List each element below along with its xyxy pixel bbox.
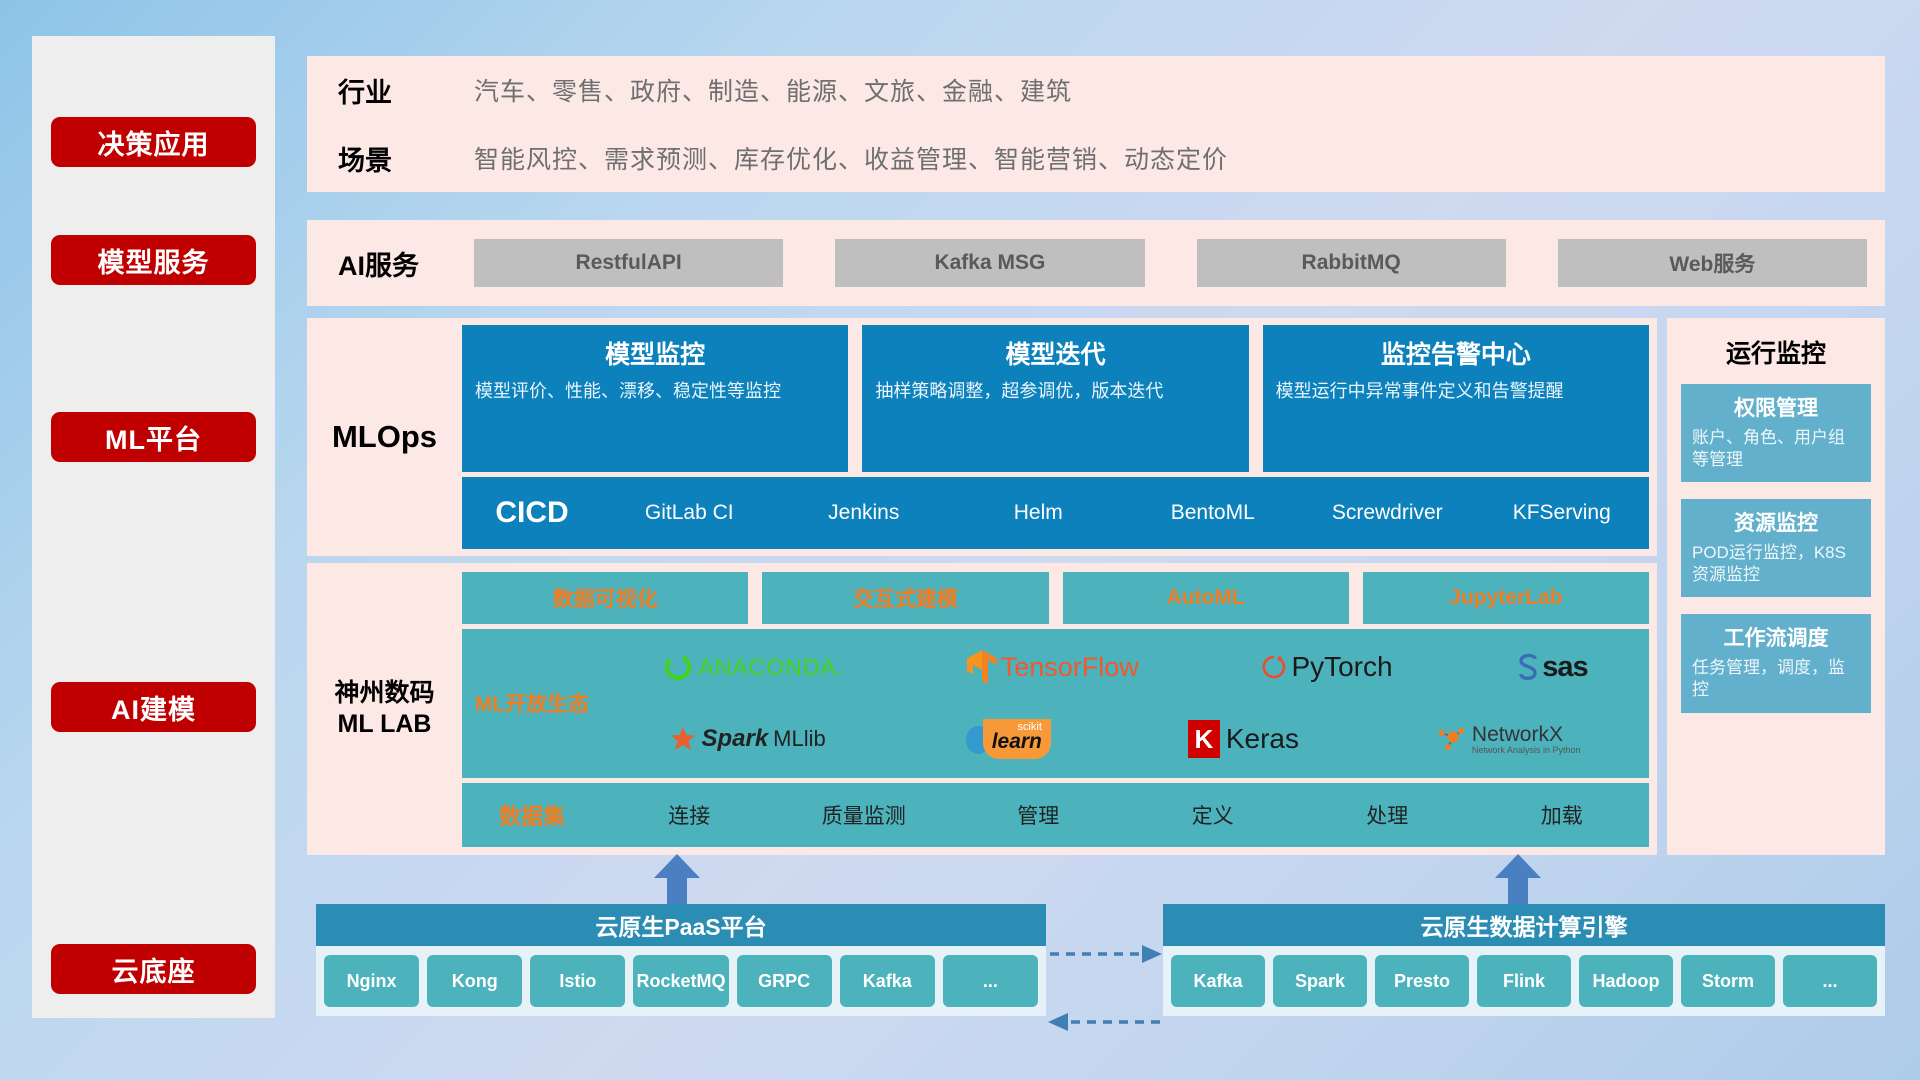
ai-service-chip-kafka-msg[interactable]: Kafka MSG xyxy=(835,239,1144,287)
cloud-compute-title: 云原生数据计算引擎 xyxy=(1163,904,1885,946)
ecosystem-logo-row-2: Spark MLlib scikit learn K xyxy=(602,705,1649,773)
spark-mllib-logo: Spark MLlib xyxy=(670,725,825,753)
ai-service-chip-restfulapi[interactable]: RestfulAPI xyxy=(474,239,783,287)
rail-item-ml-platform[interactable]: ML平台 xyxy=(51,412,256,462)
lab-tab-interactive-modeling[interactable]: 交互式建模 xyxy=(762,572,1048,624)
rail-label: AI建模 xyxy=(111,688,196,727)
card-desc: 模型评价、性能、漂移、稳定性等监控 xyxy=(475,379,835,403)
ml-open-ecosystem: ML开放生态 ANACONDA. TensorFlow xyxy=(462,629,1649,778)
dataset-item-load[interactable]: 加载 xyxy=(1475,800,1650,830)
left-rail: 决策应用 模型服务 ML平台 AI建模 云底座 xyxy=(32,36,275,1018)
lab-tab-jupyterlab[interactable]: JupyterLab xyxy=(1363,572,1649,624)
networkx-wordmark: NetworkX xyxy=(1472,724,1581,745)
mlops-card-model-monitoring[interactable]: 模型监控 模型评价、性能、漂移、稳定性等监控 xyxy=(462,325,848,472)
ai-service-chip-list: RestfulAPI Kafka MSG RabbitMQ Web服务 xyxy=(474,239,1885,287)
compute-chip-kafka[interactable]: Kafka xyxy=(1171,955,1265,1007)
ml-lab-body: 数据可视化 交互式建模 AutoML JupyterLab ML开放生态 ANA… xyxy=(462,572,1657,847)
lab-tab-data-visualization[interactable]: 数据可视化 xyxy=(462,572,748,624)
cloud-chip-more[interactable]: ... xyxy=(943,955,1038,1007)
tensorflow-wordmark: TensorFlow xyxy=(1001,652,1139,683)
ops-monitoring-panel: 运行监控 权限管理 账户、角色、用户组等管理 资源监控 POD运行监控，K8S资… xyxy=(1667,318,1885,855)
card-title: 资源监控 xyxy=(1692,507,1860,537)
keras-wordmark: Keras xyxy=(1226,723,1299,755)
compute-chip-presto[interactable]: Presto xyxy=(1375,955,1469,1007)
industry-value: 汽车、零售、政府、制造、能源、文旅、金融、建筑 xyxy=(474,72,1072,108)
ml-lab-label-line1: 神州数码 xyxy=(307,678,462,709)
dataset-item-quality-monitor[interactable]: 质量监测 xyxy=(777,800,952,830)
compute-chip-flink[interactable]: Flink xyxy=(1477,955,1571,1007)
anaconda-logo: ANACONDA. xyxy=(663,652,844,682)
scikit-learn-logo: scikit learn xyxy=(963,719,1051,759)
ai-service-panel: AI服务 RestfulAPI Kafka MSG RabbitMQ Web服务 xyxy=(307,220,1885,306)
compute-chip-more[interactable]: ... xyxy=(1783,955,1877,1007)
ops-card-resource-monitoring[interactable]: 资源监控 POD运行监控，K8S资源监控 xyxy=(1681,499,1871,597)
ml-open-ecosystem-title: ML开放生态 xyxy=(462,688,602,718)
cloud-paas-title: 云原生PaaS平台 xyxy=(316,904,1046,946)
mlops-label: MLOps xyxy=(307,419,462,455)
networkx-tagline: Network Analysis in Python xyxy=(1472,745,1581,755)
scenario-label: 场景 xyxy=(338,139,474,178)
bidirectional-link-icon xyxy=(1046,936,1164,1040)
mllib-wordmark: MLlib xyxy=(773,726,826,752)
compute-chip-hadoop[interactable]: Hadoop xyxy=(1579,955,1673,1007)
cicd-item-kfserving[interactable]: KFServing xyxy=(1475,502,1650,524)
mlops-card-list: 模型监控 模型评价、性能、漂移、稳定性等监控 模型迭代 抽样策略调整，超参调优，… xyxy=(462,325,1649,472)
ai-service-label: AI服务 xyxy=(338,244,474,283)
dataset-bar: 数据集 连接 质量监测 管理 定义 处理 加载 xyxy=(462,783,1649,847)
cloud-native-paas-block: 云原生PaaS平台 Nginx Kong Istio RocketMQ GRPC… xyxy=(316,904,1046,1016)
ai-service-chip-web-service[interactable]: Web服务 xyxy=(1558,239,1867,287)
ecosystem-logo-grid: ANACONDA. TensorFlow xyxy=(602,633,1649,773)
card-desc: POD运行监控，K8S资源监控 xyxy=(1692,542,1860,586)
mlops-panel: MLOps 模型监控 模型评价、性能、漂移、稳定性等监控 模型迭代 抽样策略调整… xyxy=(307,318,1657,556)
industry-scenario-panel: 行业 汽车、零售、政府、制造、能源、文旅、金融、建筑 场景 智能风控、需求预测、… xyxy=(307,56,1885,192)
scenario-row: 场景 智能风控、需求预测、库存优化、收益管理、智能营销、动态定价 xyxy=(307,124,1885,192)
ml-lab-label: 神州数码 ML LAB xyxy=(307,678,462,741)
card-title: 权限管理 xyxy=(1692,392,1860,422)
keras-logo: K Keras xyxy=(1188,720,1299,758)
cicd-item-screwdriver[interactable]: Screwdriver xyxy=(1300,502,1475,524)
card-title: 模型迭代 xyxy=(875,335,1235,371)
sas-logo: sas xyxy=(1515,651,1587,684)
card-title: 工作流调度 xyxy=(1692,622,1860,652)
cicd-item-bentoml[interactable]: BentoML xyxy=(1126,502,1301,524)
rail-label: 决策应用 xyxy=(98,123,210,162)
ml-lab-tab-list: 数据可视化 交互式建模 AutoML JupyterLab xyxy=(462,572,1649,624)
ml-lab-label-line2: ML LAB xyxy=(307,709,462,740)
card-title: 监控告警中心 xyxy=(1276,335,1636,371)
dataset-item-connect[interactable]: 连接 xyxy=(602,800,777,830)
cloud-chip-nginx[interactable]: Nginx xyxy=(324,955,419,1007)
learn-word: learn xyxy=(992,730,1042,754)
tensorflow-logo: TensorFlow xyxy=(967,650,1139,684)
pytorch-logo: PyTorch xyxy=(1261,651,1392,683)
keras-k-mark: K xyxy=(1194,724,1213,755)
card-desc: 模型运行中异常事件定义和告警提醒 xyxy=(1276,379,1636,403)
ops-monitoring-title: 运行监控 xyxy=(1681,334,1871,370)
cicd-title: CICD xyxy=(462,496,602,530)
up-arrow-icon-compute xyxy=(1495,854,1541,908)
compute-chip-storm[interactable]: Storm xyxy=(1681,955,1775,1007)
ml-lab-panel: 神州数码 ML LAB 数据可视化 交互式建模 AutoML JupyterLa… xyxy=(307,563,1657,855)
card-desc: 抽样策略调整，超参调优，版本迭代 xyxy=(875,379,1235,403)
industry-row: 行业 汽车、零售、政府、制造、能源、文旅、金融、建筑 xyxy=(307,56,1885,124)
ops-card-permission-management[interactable]: 权限管理 账户、角色、用户组等管理 xyxy=(1681,384,1871,482)
cloud-chip-istio[interactable]: Istio xyxy=(530,955,625,1007)
rail-item-decision-app[interactable]: 决策应用 xyxy=(51,117,256,167)
dataset-item-list: 连接 质量监测 管理 定义 处理 加载 xyxy=(602,800,1649,830)
card-title: 模型监控 xyxy=(475,335,835,371)
lab-tab-automl[interactable]: AutoML xyxy=(1063,572,1349,624)
ops-card-workflow-scheduling[interactable]: 工作流调度 任务管理，调度，监控 xyxy=(1681,614,1871,712)
scenario-value: 智能风控、需求预测、库存优化、收益管理、智能营销、动态定价 xyxy=(474,140,1228,176)
ecosystem-logo-row-1: ANACONDA. TensorFlow xyxy=(602,633,1649,701)
cicd-item-gitlab-ci[interactable]: GitLab CI xyxy=(602,502,777,524)
cloud-chip-kafka[interactable]: Kafka xyxy=(840,955,935,1007)
dataset-title: 数据集 xyxy=(462,799,602,831)
cloud-compute-chip-list: Kafka Spark Presto Flink Hadoop Storm ..… xyxy=(1163,946,1885,1016)
networkx-logo: NetworkX Network Analysis in Python xyxy=(1436,723,1581,755)
rail-label: 模型服务 xyxy=(98,241,210,280)
pytorch-wordmark: PyTorch xyxy=(1291,651,1392,683)
cloud-native-compute-block: 云原生数据计算引擎 Kafka Spark Presto Flink Hadoo… xyxy=(1163,904,1885,1016)
rail-item-model-service[interactable]: 模型服务 xyxy=(51,235,256,285)
dataset-item-process[interactable]: 处理 xyxy=(1300,800,1475,830)
cicd-item-jenkins[interactable]: Jenkins xyxy=(777,502,952,524)
dataset-item-manage[interactable]: 管理 xyxy=(951,800,1126,830)
card-desc: 任务管理，调度，监控 xyxy=(1692,657,1860,701)
cicd-bar: CICD GitLab CI Jenkins Helm BentoML Scre… xyxy=(462,477,1649,549)
rail-item-ai-modeling[interactable]: AI建模 xyxy=(51,682,256,732)
ai-service-chip-rabbitmq[interactable]: RabbitMQ xyxy=(1197,239,1506,287)
compute-chip-spark[interactable]: Spark xyxy=(1273,955,1367,1007)
cloud-chip-grpc[interactable]: GRPC xyxy=(737,955,832,1007)
cloud-paas-chip-list: Nginx Kong Istio RocketMQ GRPC Kafka ... xyxy=(316,946,1046,1016)
spark-wordmark: Spark xyxy=(701,725,768,753)
cicd-item-list: GitLab CI Jenkins Helm BentoML Screwdriv… xyxy=(602,502,1649,524)
rail-label: 云底座 xyxy=(112,950,196,989)
cloud-chip-rocketmq[interactable]: RocketMQ xyxy=(633,955,728,1007)
dataset-item-define[interactable]: 定义 xyxy=(1126,800,1301,830)
card-desc: 账户、角色、用户组等管理 xyxy=(1692,427,1860,471)
rail-item-cloud-base[interactable]: 云底座 xyxy=(51,944,256,994)
industry-label: 行业 xyxy=(338,71,474,110)
mlops-card-model-iteration[interactable]: 模型迭代 抽样策略调整，超参调优，版本迭代 xyxy=(862,325,1248,472)
cloud-chip-kong[interactable]: Kong xyxy=(427,955,522,1007)
anaconda-wordmark: ANACONDA. xyxy=(698,654,844,681)
cicd-item-helm[interactable]: Helm xyxy=(951,502,1126,524)
rail-label: ML平台 xyxy=(105,418,202,457)
mlops-body: 模型监控 模型评价、性能、漂移、稳定性等监控 模型迭代 抽样策略调整，超参调优，… xyxy=(462,325,1657,549)
up-arrow-icon-paas xyxy=(654,854,700,908)
sas-wordmark: sas xyxy=(1542,651,1587,684)
mlops-card-alert-center[interactable]: 监控告警中心 模型运行中异常事件定义和告警提醒 xyxy=(1263,325,1649,472)
